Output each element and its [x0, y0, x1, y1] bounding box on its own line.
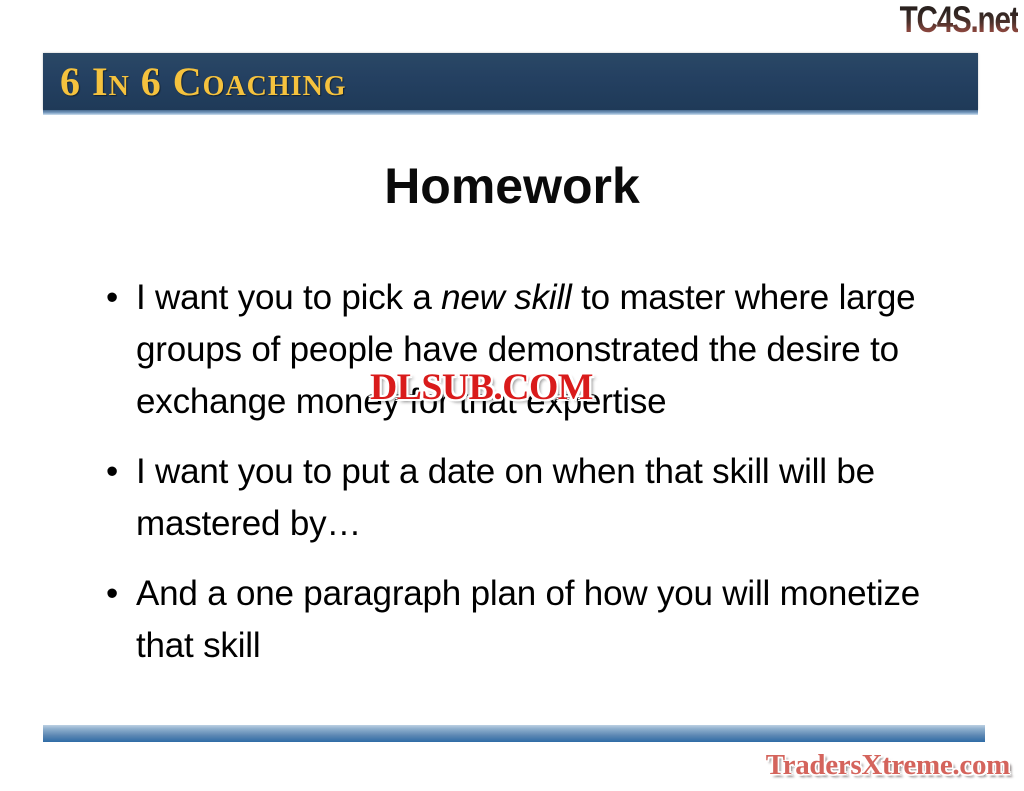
watermark-overlay: DLSUB.COM: [370, 368, 593, 408]
bullet-dot-icon: •: [106, 568, 118, 620]
bullet-dot-icon: •: [106, 272, 118, 324]
list-item: • I want you to put a date on when that …: [98, 446, 958, 550]
list-item: • And a one paragraph plan of how you wi…: [98, 568, 958, 672]
bullet-text-emphasis: new skill: [441, 278, 571, 317]
presentation-slide: TC4S.net 6 In 6 Coaching Homework • I wa…: [0, 0, 1024, 791]
page-title: Homework: [0, 157, 1024, 215]
footer-bar: [43, 725, 985, 742]
banner-accent-strip: [43, 110, 978, 115]
bullet-dot-icon: •: [106, 446, 118, 498]
bullet-text-pre: I want you to pick a: [136, 278, 441, 317]
site-logo: TC4S.net: [899, 1, 1018, 39]
list-item-text: I want you to put a date on when that sk…: [136, 452, 875, 543]
footer-brand-logo: TradersXtreme.com: [766, 748, 1010, 782]
banner-title: 6 In 6 Coaching: [60, 57, 347, 107]
banner-bar: 6 In 6 Coaching: [43, 53, 978, 110]
list-item-text: And a one paragraph plan of how you will…: [136, 574, 920, 665]
bullet-list: • I want you to pick a new skill to mast…: [98, 272, 958, 672]
